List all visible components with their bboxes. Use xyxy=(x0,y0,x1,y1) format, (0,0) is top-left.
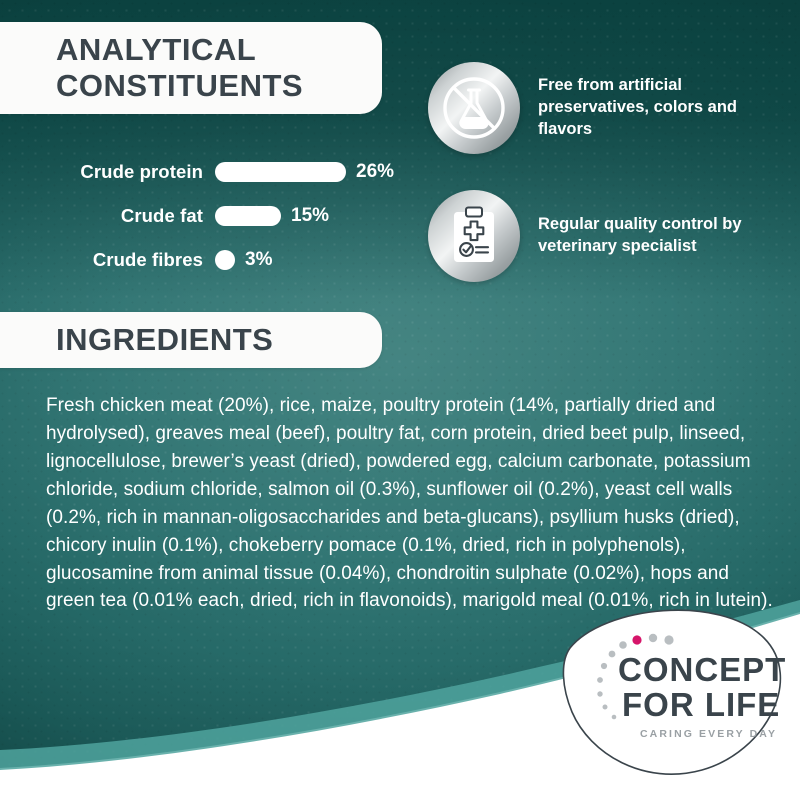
badge-circle xyxy=(428,190,520,282)
constituent-value: 15% xyxy=(291,205,329,227)
constituent-label: Crude protein xyxy=(0,161,215,183)
clipboard-check-icon xyxy=(441,203,507,269)
analytical-title-line-2: CONSTITUENTS xyxy=(56,68,303,104)
logo-line-2: FOR LIFE xyxy=(622,686,780,723)
no-flask-icon xyxy=(441,75,507,141)
constituent-value: 3% xyxy=(245,249,272,271)
feature-quality-control: Regular quality control by veterinary sp… xyxy=(428,190,783,282)
logo-dot-accent xyxy=(632,635,641,644)
product-info-panel: ANALYTICAL CONSTITUENTS Crude protein 26… xyxy=(0,0,800,800)
constituent-row: Crude fat 15% xyxy=(0,194,420,238)
analytical-title-line-1: ANALYTICAL xyxy=(56,32,303,68)
constituent-label: Crude fat xyxy=(0,205,215,227)
feature-free-from-artificial: Free from artificial preservatives, colo… xyxy=(428,62,783,154)
ingredients-title: INGREDIENTS xyxy=(56,322,273,358)
ingredients-body-text: Fresh chicken meat (20%), rice, maize, p… xyxy=(46,392,776,615)
constituent-bar xyxy=(215,206,281,226)
constituent-label: Crude fibres xyxy=(0,249,215,271)
analytical-constituents-list: Crude protein 26% Crude fat 15% Crude fi… xyxy=(0,150,420,282)
logo-line-1: CONCEPT xyxy=(618,651,786,688)
constituent-value: 26% xyxy=(356,161,394,183)
constituent-row: Crude protein 26% xyxy=(0,150,420,194)
ingredients-heading-panel: INGREDIENTS xyxy=(0,312,382,368)
analytical-constituents-title: ANALYTICAL CONSTITUENTS xyxy=(56,32,303,104)
constituent-row: Crude fibres 3% xyxy=(0,238,420,282)
analytical-constituents-heading-panel: ANALYTICAL CONSTITUENTS xyxy=(0,22,382,114)
badge-circle xyxy=(428,62,520,154)
logo-tagline: CARING EVERY DAY xyxy=(640,728,777,740)
brand-logo: CONCEPT FOR LIFE CARING EVERY DAY xyxy=(552,604,788,776)
constituent-bar xyxy=(215,250,235,270)
feature-text: Regular quality control by veterinary sp… xyxy=(538,214,783,258)
feature-text: Free from artificial preservatives, colo… xyxy=(538,75,783,141)
constituent-bar xyxy=(215,162,346,182)
